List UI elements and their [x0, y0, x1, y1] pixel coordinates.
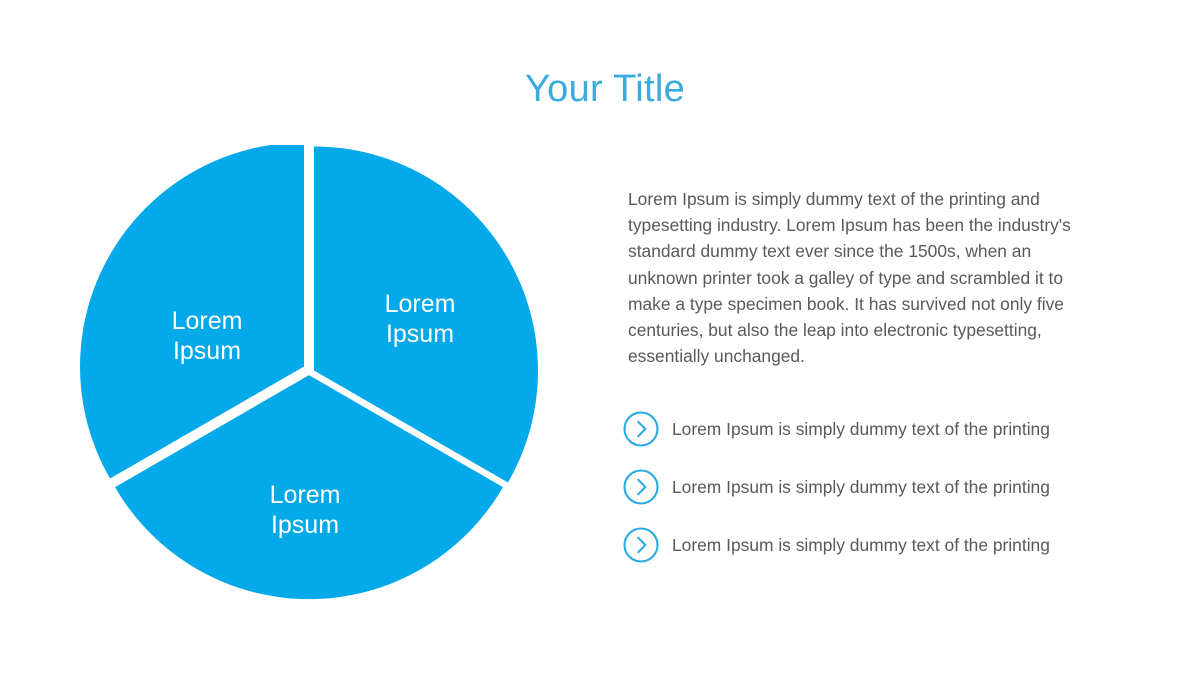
list-item-label: Lorem Ipsum is simply dummy text of the … [672, 417, 1050, 441]
pie-slice-1-label-line2: Ipsum [386, 320, 454, 348]
pie-slice-2-label-line1: Lorem [270, 481, 341, 509]
pie-slice-1-label-line1: Lorem [385, 290, 456, 318]
page-title: Your Title [0, 70, 1200, 108]
pie-slice-3-label-line2: Ipsum [173, 337, 241, 365]
chevron-right-circle-icon[interactable] [622, 526, 660, 564]
slide-canvas: Your Title Lorem Ipsum Lorem Ipsum Lorem… [0, 0, 1200, 675]
list-item[interactable]: Lorem Ipsum is simply dummy text of the … [622, 409, 1112, 449]
list-item[interactable]: Lorem Ipsum is simply dummy text of the … [622, 467, 1112, 507]
pie-slice-3-label-line1: Lorem [172, 307, 243, 335]
chevron-right-circle-icon[interactable] [622, 468, 660, 506]
pie-slice-2-label-line2: Ipsum [271, 511, 339, 539]
list-item[interactable]: Lorem Ipsum is simply dummy text of the … [622, 525, 1112, 565]
body-paragraph: Lorem Ipsum is simply dummy text of the … [628, 186, 1098, 369]
list-item-label: Lorem Ipsum is simply dummy text of the … [672, 533, 1050, 557]
chevron-right-circle-icon[interactable] [622, 410, 660, 448]
content-column: Lorem Ipsum is simply dummy text of the … [628, 186, 1106, 369]
pie-chart-svg: Lorem Ipsum Lorem Ipsum Lorem Ipsum [80, 145, 540, 605]
list-item-label: Lorem Ipsum is simply dummy text of the … [672, 475, 1050, 499]
pie-chart: Lorem Ipsum Lorem Ipsum Lorem Ipsum [80, 145, 540, 605]
bullet-list: Lorem Ipsum is simply dummy text of the … [622, 409, 1112, 565]
